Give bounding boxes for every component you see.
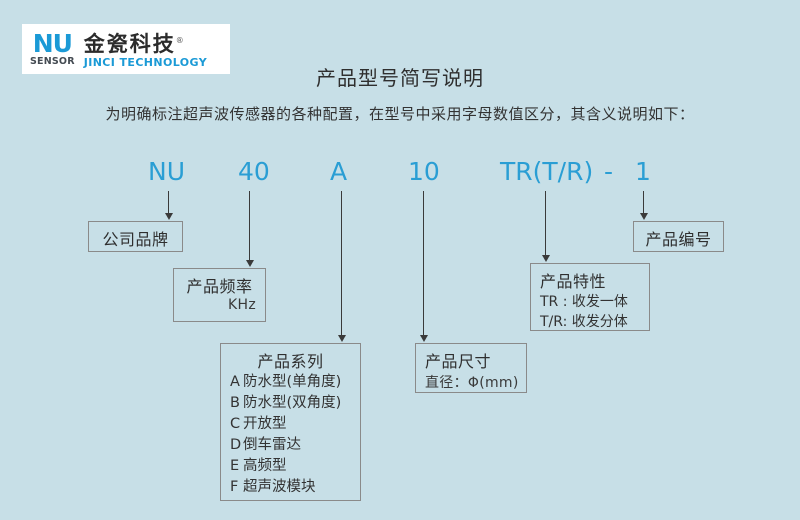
registered-trademark-icon: ® — [176, 36, 184, 45]
model-code-token: 1 — [635, 157, 651, 186]
callout-box-product-frequency: 产品频率KHz — [173, 268, 266, 322]
series-list: A防水型(单角度)B防水型(双角度)C开放型D倒车雷达E高频型F超声波模块 — [230, 372, 351, 498]
feature-line: T/R: 收发分体 — [540, 312, 640, 332]
connector-arrow-icon — [542, 255, 550, 262]
series-key: B — [230, 393, 243, 414]
callout-box-company-brand: 公司品牌 — [88, 221, 183, 252]
feature-label: 收发一体 — [567, 294, 627, 310]
logo-company-name-cn-text: 金瓷科技 — [84, 32, 176, 56]
callout-title: 产品编号 — [643, 226, 714, 250]
series-list-item: F超声波模块 — [230, 477, 351, 498]
callout-title: 公司品牌 — [98, 226, 173, 250]
feature-line: TR : 收发一体 — [540, 292, 640, 312]
series-label: 防水型(双角度) — [243, 395, 341, 411]
connector-arrow-icon — [338, 335, 346, 342]
model-code-token: NU — [148, 157, 185, 186]
connector-line — [545, 191, 546, 256]
diagram-canvas: NU SENSOR 金瓷科技® JINCI TECHNOLOGY 产品型号简写说… — [0, 0, 800, 520]
callout-title: 产品频率 — [183, 273, 256, 297]
series-key: E — [230, 456, 243, 477]
connector-arrow-icon — [165, 213, 173, 220]
model-code-token: 10 — [408, 157, 440, 186]
connector-line — [423, 191, 424, 336]
callout-title: 产品特性 — [540, 268, 640, 292]
logo-company-name-cn: 金瓷科技® — [84, 29, 207, 56]
series-key: C — [230, 414, 243, 435]
connector-line — [643, 191, 644, 214]
series-label: 高频型 — [243, 458, 287, 474]
series-label: 开放型 — [243, 416, 287, 432]
series-label: 超声波模块 — [243, 479, 316, 495]
series-list-item: D倒车雷达 — [230, 435, 351, 456]
series-list-item: C开放型 — [230, 414, 351, 435]
series-key: F — [230, 477, 243, 498]
model-code-token: TR(T/R) — [500, 157, 593, 186]
series-key: A — [230, 372, 243, 393]
connector-arrow-icon — [640, 213, 648, 220]
connector-line — [249, 191, 250, 261]
series-list-item: E高频型 — [230, 456, 351, 477]
feature-code: TR : — [540, 294, 567, 310]
callout-box-product-size: 产品尺寸直径：Φ(mm) — [415, 343, 527, 393]
series-list-item: B防水型(双角度) — [230, 393, 351, 414]
page-title: 产品型号简写说明 — [0, 62, 800, 91]
model-code-token: A — [330, 157, 347, 186]
model-code-token: - — [604, 157, 613, 186]
model-code-token: 40 — [238, 157, 270, 186]
callout-box-product-series: 产品系列A防水型(单角度)B防水型(双角度)C开放型D倒车雷达E高频型F超声波模… — [220, 343, 361, 501]
series-list-item: A防水型(单角度) — [230, 372, 351, 393]
feature-code: T/R: — [540, 314, 567, 330]
connector-arrow-icon — [246, 260, 254, 267]
callout-title: 产品系列 — [230, 348, 351, 372]
callout-subline: 直径：Φ(mm) — [425, 372, 517, 392]
callout-box-product-feature: 产品特性TR : 收发一体T/R: 收发分体 — [530, 263, 650, 331]
callout-title: 产品尺寸 — [425, 348, 517, 372]
connector-arrow-icon — [420, 335, 428, 342]
logo-mark-text: NU — [30, 32, 75, 56]
connector-line — [168, 191, 169, 214]
connector-line — [341, 191, 342, 336]
page-subtitle: 为明确标注超声波传感器的各种配置，在型号中采用字母数值区分，其含义说明如下： — [0, 103, 800, 124]
series-label: 倒车雷达 — [243, 437, 301, 453]
series-key: D — [230, 435, 243, 456]
series-label: 防水型(单角度) — [243, 374, 341, 390]
model-code-row: NU40A10TR(T/R)-1 — [0, 157, 800, 191]
callout-subline: KHz — [183, 297, 256, 313]
callout-box-product-number: 产品编号 — [633, 221, 724, 252]
feature-label: 收发分体 — [567, 314, 627, 330]
